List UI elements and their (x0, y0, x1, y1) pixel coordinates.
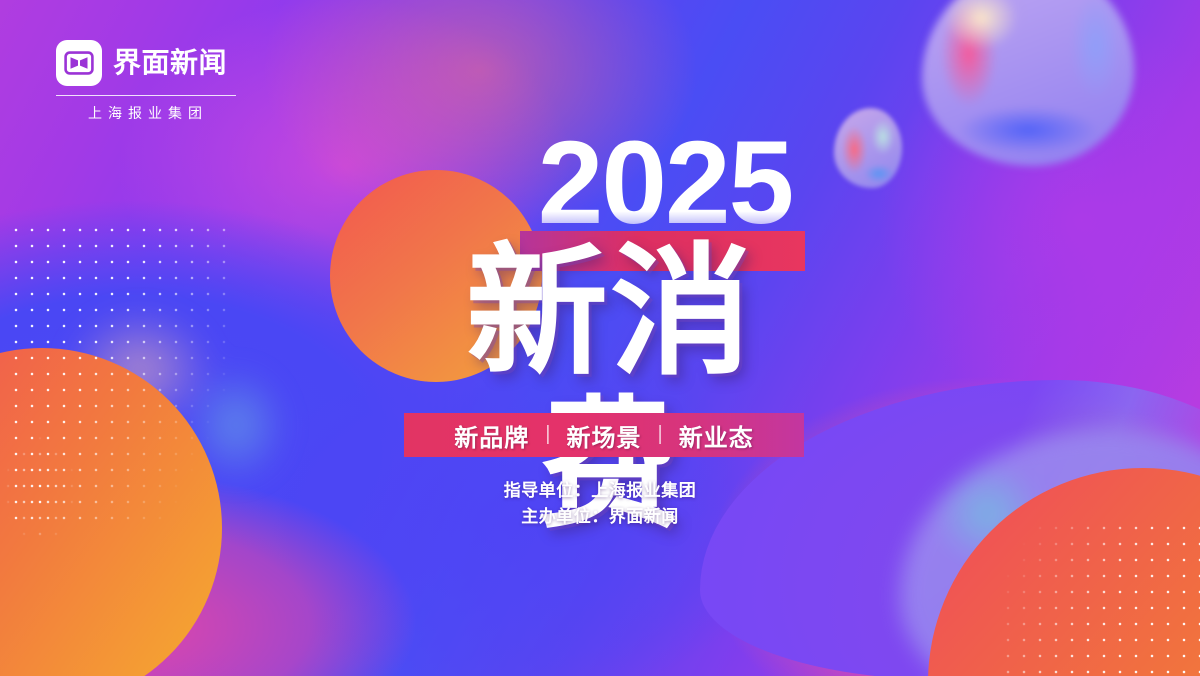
jiemian-screen-icon (56, 40, 102, 86)
brand-logo-row: 界面新闻 (56, 40, 236, 86)
dot-grid-left-lower (0, 430, 200, 630)
logo-divider (56, 95, 236, 96)
dot-grid-bottom-right (1000, 520, 1200, 676)
poster-canvas: 界面新闻 上海报业集团 2025 新消费 新品牌 | 新场景 | 新业态 指导单… (0, 0, 1200, 676)
brand-logo-block: 界面新闻 上海报业集团 (56, 40, 236, 123)
brand-group-name: 上海报业集团 (56, 103, 236, 123)
brand-name: 界面新闻 (113, 49, 227, 77)
gradient-blob-small-right (834, 108, 902, 188)
orange-circle-center (330, 170, 542, 382)
